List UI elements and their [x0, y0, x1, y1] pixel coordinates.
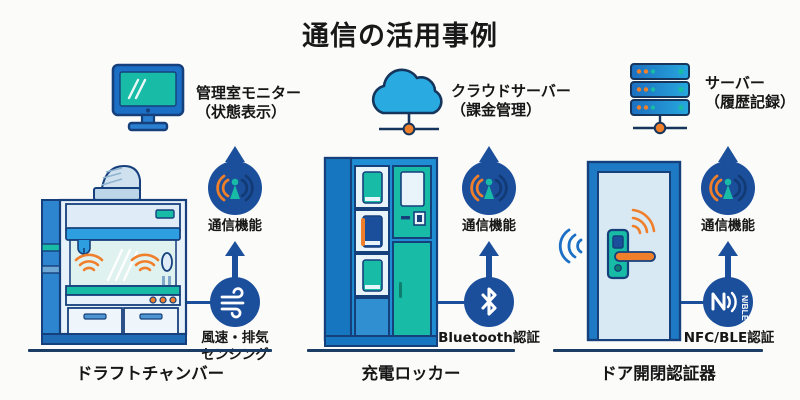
wireless-antenna-icon	[709, 171, 747, 205]
arrow-to-comm-draft-chamber	[224, 241, 246, 279]
panel-caption-door-authenticator: ドア開閉認証器	[553, 360, 763, 384]
panel-caption-draft-chamber: ドラフトチャンバー	[28, 360, 272, 384]
panel-caption-charging-locker: 充電ロッカー	[307, 360, 515, 384]
diagram-canvas: 通信の活用事例 管理室モニター （状態表示）	[0, 0, 800, 400]
server-rack-icon	[621, 60, 701, 140]
sensor-badge-wind	[210, 277, 260, 327]
page-title: 通信の活用事例	[0, 14, 800, 53]
arrow-to-comm-door-authenticator	[717, 241, 739, 279]
sensor-badge-label-nfc: NFC/BLE認証	[673, 330, 785, 347]
cloud-icon	[363, 63, 455, 141]
panel-charging-locker: クラウドサーバー （課金管理） 通信機能	[305, 58, 550, 388]
wind-icon	[219, 289, 251, 315]
door-lock-icon	[555, 156, 685, 350]
sensor-badge-label-bluetooth: Bluetooth認証	[433, 330, 545, 347]
comm-badge-label-draft-chamber: 通信機能	[188, 218, 282, 235]
connector-device-to-bluetooth	[436, 301, 466, 304]
ground-line-door-authenticator	[553, 349, 763, 352]
comm-badge-door-authenticator	[701, 161, 755, 215]
nfc-icon-text: N/BLE	[740, 295, 750, 321]
monitor-icon	[105, 63, 191, 135]
endpoint-label-monitor: 管理室モニター （状態表示）	[196, 84, 301, 122]
sensor-badge-label-wind: 風速・排気 センシング	[186, 330, 284, 364]
comm-badge-charging-locker	[462, 161, 516, 215]
arrow-to-comm-charging-locker	[478, 241, 500, 279]
wireless-antenna-icon	[216, 171, 254, 205]
ground-line-charging-locker	[307, 349, 515, 352]
locker-icon	[323, 154, 439, 350]
panel-draft-chamber: 管理室モニター （状態表示） 通信機能	[10, 58, 300, 388]
panel-door-authenticator: サーバー （履歴記録） 通信機能	[553, 58, 793, 388]
nfc-icon: N/BLE	[706, 285, 750, 319]
comm-badge-label-charging-locker: 通信機能	[442, 218, 536, 235]
sensor-badge-bluetooth	[464, 277, 514, 327]
bluetooth-icon	[478, 286, 500, 318]
ground-line-draft-chamber	[28, 349, 272, 352]
comm-badge-draft-chamber	[208, 161, 262, 215]
wireless-antenna-icon	[470, 171, 508, 205]
comm-badge-label-door-authenticator: 通信機能	[681, 218, 775, 235]
sensor-badge-nfc: N/BLE	[703, 277, 753, 327]
endpoint-label-server: サーバー （履歴記録）	[705, 74, 795, 112]
fume-hood-icon	[40, 158, 192, 350]
